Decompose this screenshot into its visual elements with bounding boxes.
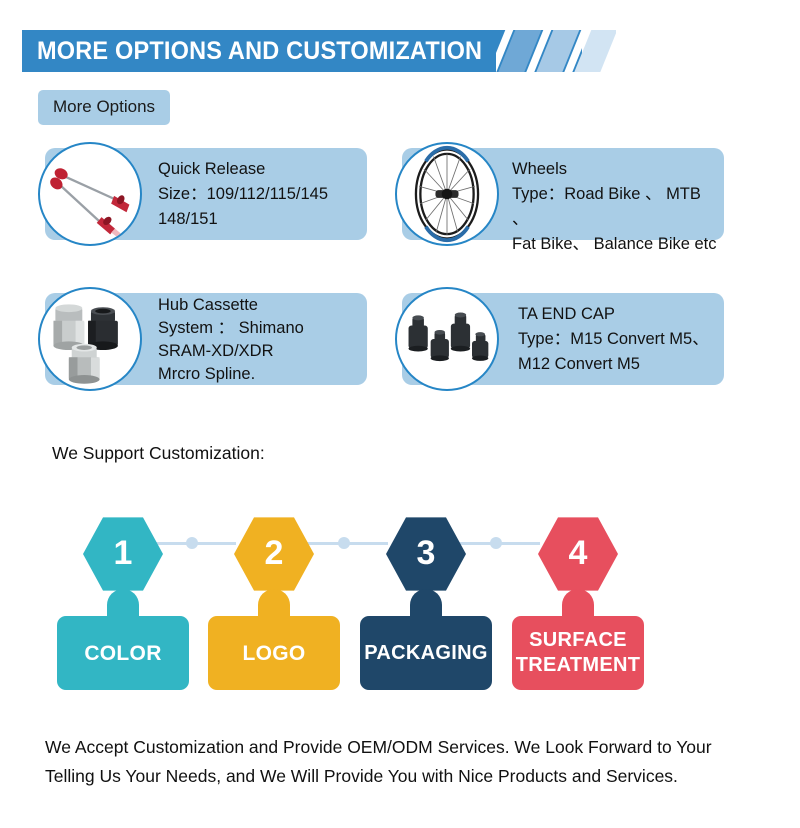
wheels-card-text: Wheels Type：Road Bike 、 MTB 、 Fat Bike、 … — [512, 157, 718, 257]
quick-release-icon — [38, 142, 142, 246]
hub-cassette-detail: System ： Shimano SRAM-XD/XDR Mrcro Splin… — [158, 319, 304, 383]
bicycle-wheel-art — [397, 144, 497, 244]
footer-paragraph: We Accept Customization and Provide OEM/… — [45, 733, 715, 791]
hexagon-badge: 2 — [234, 515, 314, 593]
step-number: 2 — [265, 534, 284, 573]
hub-cassette-title: Hub Cassette — [158, 296, 258, 314]
step-hexagon-4: 4 — [538, 515, 618, 593]
step-item-color[interactable]: 1 COLOR — [57, 500, 189, 589]
ta-end-cap-title: TA END CAP — [518, 305, 615, 323]
section-header-banner: MORE OPTIONS AND CUSTOMIZATION — [22, 30, 582, 72]
step-item-packaging[interactable]: 3 PACKAGING — [360, 500, 492, 589]
option-card-ta-end-cap: TA END CAP Type：M15 Convert M5、 M12 Conv… — [402, 293, 724, 385]
ta-end-cap-detail: Type：M15 Convert M5、 M12 Convert M5 — [518, 330, 709, 373]
ta-end-cap-card-text: TA END CAP Type：M15 Convert M5、 M12 Conv… — [518, 302, 718, 377]
thru-axle-end-cap-art — [397, 289, 497, 389]
wheels-icon — [395, 142, 499, 246]
step-hexagon-3: 3 — [386, 515, 466, 593]
hub-cassette-card-text: Hub Cassette System ： Shimano SRAM-XD/XD… — [158, 294, 361, 386]
option-card-quick-release: Quick Release Size：109/112/115/145 148/1… — [45, 148, 367, 240]
hexagon-badge: 1 — [83, 515, 163, 593]
wheels-title: Wheels — [512, 160, 567, 178]
step-item-surface-treatment[interactable]: 4 SURFACE TREATMENT — [512, 500, 644, 589]
customization-steps: 1 COLOR 2 LOGO 3 — [0, 500, 800, 710]
more-options-label: More Options — [38, 90, 170, 125]
customization-heading: We Support Customization: — [52, 443, 265, 464]
hub-cassette-icon — [38, 287, 142, 391]
step-label-packaging: PACKAGING — [360, 616, 492, 690]
page-root: MORE OPTIONS AND CUSTOMIZATION More Opti… — [0, 0, 800, 828]
step-item-logo[interactable]: 2 LOGO — [208, 500, 340, 589]
quick-release-detail: Size：109/112/115/145 148/151 — [158, 185, 328, 228]
quick-release-title: Quick Release — [158, 160, 265, 178]
quick-release-skewer-art — [40, 144, 140, 244]
wheels-detail: Type：Road Bike 、 MTB 、 Fat Bike、 Balance… — [512, 185, 717, 253]
page-title: MORE OPTIONS AND CUSTOMIZATION — [22, 37, 482, 66]
step-hexagon-1: 1 — [83, 515, 163, 593]
step-label-logo: LOGO — [208, 616, 340, 690]
hub-cassette-body-art — [40, 289, 140, 389]
quick-release-card-text: Quick Release Size：109/112/115/145 148/1… — [158, 157, 361, 232]
step-hexagon-2: 2 — [234, 515, 314, 593]
option-card-hub-cassette: Hub Cassette System ： Shimano SRAM-XD/XD… — [45, 293, 367, 385]
option-card-wheels: Wheels Type：Road Bike 、 MTB 、 Fat Bike、 … — [402, 148, 724, 240]
step-label-color: COLOR — [57, 616, 189, 690]
ta-end-cap-icon — [395, 287, 499, 391]
step-number: 1 — [114, 534, 133, 573]
step-number: 4 — [569, 534, 588, 573]
hexagon-badge: 4 — [538, 515, 618, 593]
step-label-surface-treatment: SURFACE TREATMENT — [512, 616, 644, 690]
hexagon-badge: 3 — [386, 515, 466, 593]
step-number: 3 — [417, 534, 436, 573]
